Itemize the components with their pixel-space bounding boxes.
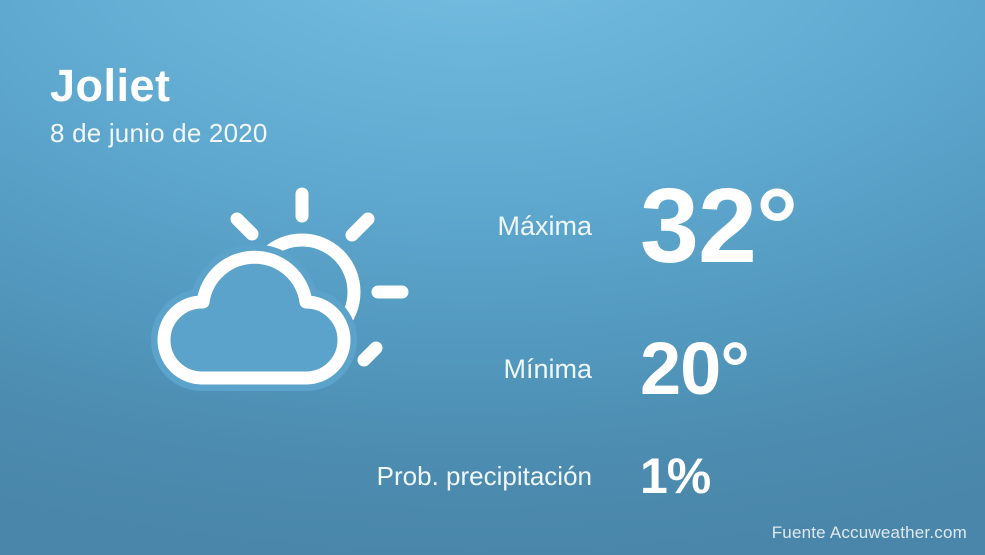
reading-row-max: Máxima 32° <box>360 150 940 302</box>
reading-label-min: Mínima <box>360 354 640 385</box>
source-attribution: Fuente Accuweather.com <box>772 523 967 543</box>
sun-ray-upper-left <box>237 219 252 234</box>
readings-list: Máxima 32° Mínima 20° Prob. precipitació… <box>360 150 940 516</box>
reading-row-precipitation: Prob. precipitación 1% <box>360 436 940 516</box>
city-name: Joliet <box>50 62 268 109</box>
forecast-date: 8 de junio de 2020 <box>50 118 268 149</box>
location-header: Joliet 8 de junio de 2020 <box>50 62 268 149</box>
reading-value-min: 20° <box>640 332 749 406</box>
reading-label-precipitation: Prob. precipitación <box>360 461 640 492</box>
reading-label-max: Máxima <box>360 211 640 242</box>
cloud-shape <box>164 257 344 378</box>
reading-row-min: Mínima 20° <box>360 302 940 436</box>
reading-value-precipitation: 1% <box>640 451 710 501</box>
reading-value-max: 32° <box>640 173 797 279</box>
weather-card: Joliet 8 de junio de 2020 Máxima <box>0 0 985 555</box>
